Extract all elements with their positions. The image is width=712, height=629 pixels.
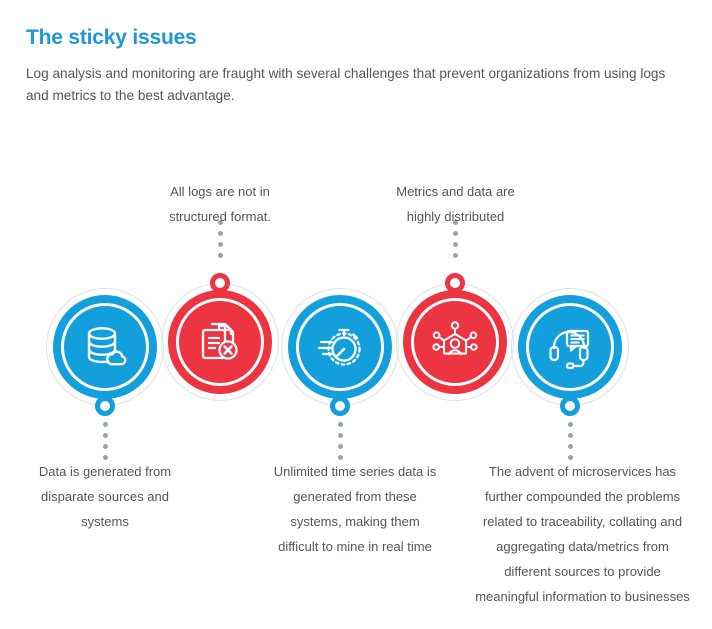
caption-node-5: The advent of microservices has further …: [460, 460, 705, 610]
caption-line: aggregating data/metrics from: [460, 535, 705, 560]
leader-dots: [568, 422, 573, 460]
node-connector-dot: [330, 396, 350, 416]
caption-node-4: Metrics and data are highly distributed: [368, 180, 543, 230]
caption-line: disparate sources and: [10, 485, 200, 510]
stopwatch-icon: [310, 317, 370, 377]
caption-line: different sources to provide: [460, 560, 705, 585]
caption-line: difficult to mine in real time: [245, 535, 465, 560]
leader-dots: [103, 422, 108, 460]
node-connector-dot: [95, 396, 115, 416]
distributed-network-user-icon: [425, 312, 485, 372]
caption-line: meaningful information to businesses: [460, 585, 705, 610]
node-connector-dot: [560, 396, 580, 416]
caption-node-3: Unlimited time series data is generated …: [245, 460, 465, 560]
leader-dots: [338, 422, 343, 460]
documents-error-icon: [190, 312, 250, 372]
node-connector-dot: [210, 273, 230, 293]
caption-line: Metrics and data are: [368, 180, 543, 205]
caption-line: All logs are not in: [130, 180, 310, 205]
caption-line: Unlimited time series data is: [245, 460, 465, 485]
caption-line: systems, making them: [245, 510, 465, 535]
caption-line: highly distributed: [368, 205, 543, 230]
caption-line: related to traceability, collating and: [460, 510, 705, 535]
node-connector-dot: [445, 273, 465, 293]
caption-node-2: All logs are not in structured format.: [130, 180, 310, 230]
caption-line: generated from these: [245, 485, 465, 510]
database-cloud-icon: [75, 317, 135, 377]
sticky-issues-diagram: Data is generated from disparate sources…: [0, 0, 712, 629]
caption-line: Data is generated from: [10, 460, 200, 485]
caption-line: further compounded the problems: [460, 485, 705, 510]
caption-line: The advent of microservices has: [460, 460, 705, 485]
headset-chat-icon: [540, 317, 600, 377]
caption-line: systems: [10, 510, 200, 535]
caption-node-1: Data is generated from disparate sources…: [10, 460, 200, 535]
caption-line: structured format.: [130, 205, 310, 230]
